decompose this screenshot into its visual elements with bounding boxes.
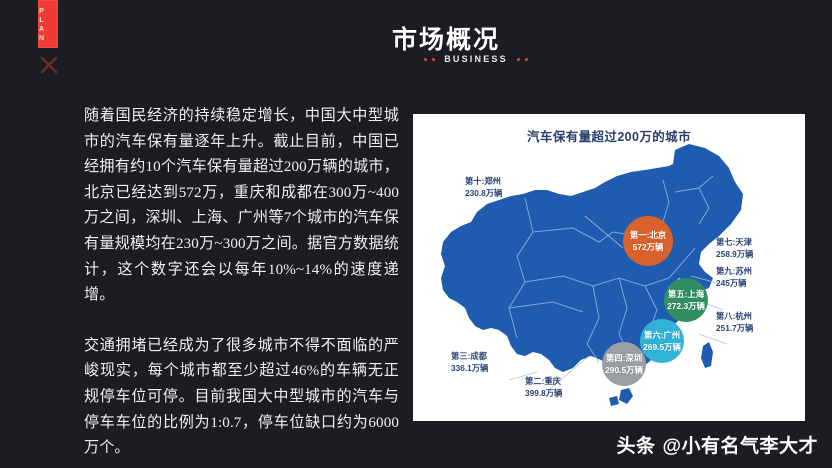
map-label-name: 第九:苏州 (716, 266, 752, 278)
map-bubble-beijing: 第一:北京 572万辆 (623, 216, 673, 266)
map-bubble-value: 272.3万辆 (667, 300, 705, 312)
page-title: 市场概况 (0, 20, 832, 56)
map-bubble-name: 第一:北京 (630, 229, 666, 241)
map-bubble-shanghai: 第五:上海 272.3万辆 (664, 278, 708, 322)
body-copy: 随着国民经济的持续稳定增长，中国大中型城市的汽车保有量逐年上升。截止目前，中国已… (84, 104, 399, 462)
map-label-name: 第八:杭州 (716, 311, 753, 323)
watermark-author: @小有名气李大才 (662, 431, 818, 458)
map-label-value: 230.8万辆 (465, 188, 502, 200)
map-bubble-shenzhen: 第四:深圳 290.5万辆 (602, 342, 646, 386)
subtitle-dots-right (517, 58, 528, 61)
body-paragraph-2: 交通拥堵已经成为了很多城市不得不面临的严峻现实，每个城市都至少超过46%的车辆无… (84, 334, 399, 462)
map-bubble-name: 第五:上海 (668, 288, 704, 300)
decorative-dot (525, 58, 528, 61)
subtitle-dots-left (424, 58, 435, 61)
map-infographic-panel: 汽车保有量超过200万的城市 (413, 114, 805, 421)
map-bubble-name: 第四:深圳 (606, 352, 642, 364)
map-label-suzhou: 第九:苏州 245万辆 (716, 266, 752, 289)
x-mark-icon (40, 56, 58, 74)
map-bubble-guangzhou: 第六:广州 269.5万辆 (640, 319, 684, 363)
map-bubble-value: 572万辆 (633, 241, 664, 253)
decorative-dot (517, 58, 520, 61)
map-label-name: 第二:重庆 (525, 376, 562, 388)
map-label-chongqing: 第二:重庆 399.8万辆 (525, 376, 562, 399)
body-paragraph-1: 随着国民经济的持续稳定增长，中国大中型城市的汽车保有量逐年上升。截止目前，中国已… (84, 104, 399, 309)
map-label-name: 第三:成都 (451, 351, 488, 363)
map-bubble-value: 290.5万辆 (605, 364, 643, 376)
decorative-dot (432, 58, 435, 61)
map-label-value: 399.8万辆 (525, 388, 562, 400)
watermark-platform: 头条 (616, 431, 655, 458)
map-bubble-value: 269.5万辆 (643, 341, 681, 353)
map-label-tianjin: 第七:天津 258.9万辆 (716, 237, 753, 260)
map-label-value: 251.7万辆 (716, 323, 753, 335)
page-subtitle-row: BUSINESS (60, 54, 832, 64)
page-subtitle-en: BUSINESS (444, 54, 508, 64)
map-label-name: 第十:郑州 (465, 176, 502, 188)
map-label-zhengzhou: 第十:郑州 230.8万辆 (465, 176, 502, 199)
map-label-name: 第七:天津 (716, 237, 753, 249)
map-label-chengdu: 第三:成都 336.1万辆 (451, 351, 488, 374)
map-label-value: 336.1万辆 (451, 363, 488, 375)
map-label-value: 258.9万辆 (716, 249, 753, 261)
page-title-cn: 市场概况 (392, 27, 500, 54)
map-label-value: 245万辆 (716, 278, 752, 290)
decorative-dot (424, 58, 427, 61)
map-bubble-name: 第六:广州 (644, 329, 680, 341)
map-label-hangzhou: 第八:杭州 251.7万辆 (716, 311, 753, 334)
watermark: 头条 @小有名气李大才 (616, 431, 818, 458)
